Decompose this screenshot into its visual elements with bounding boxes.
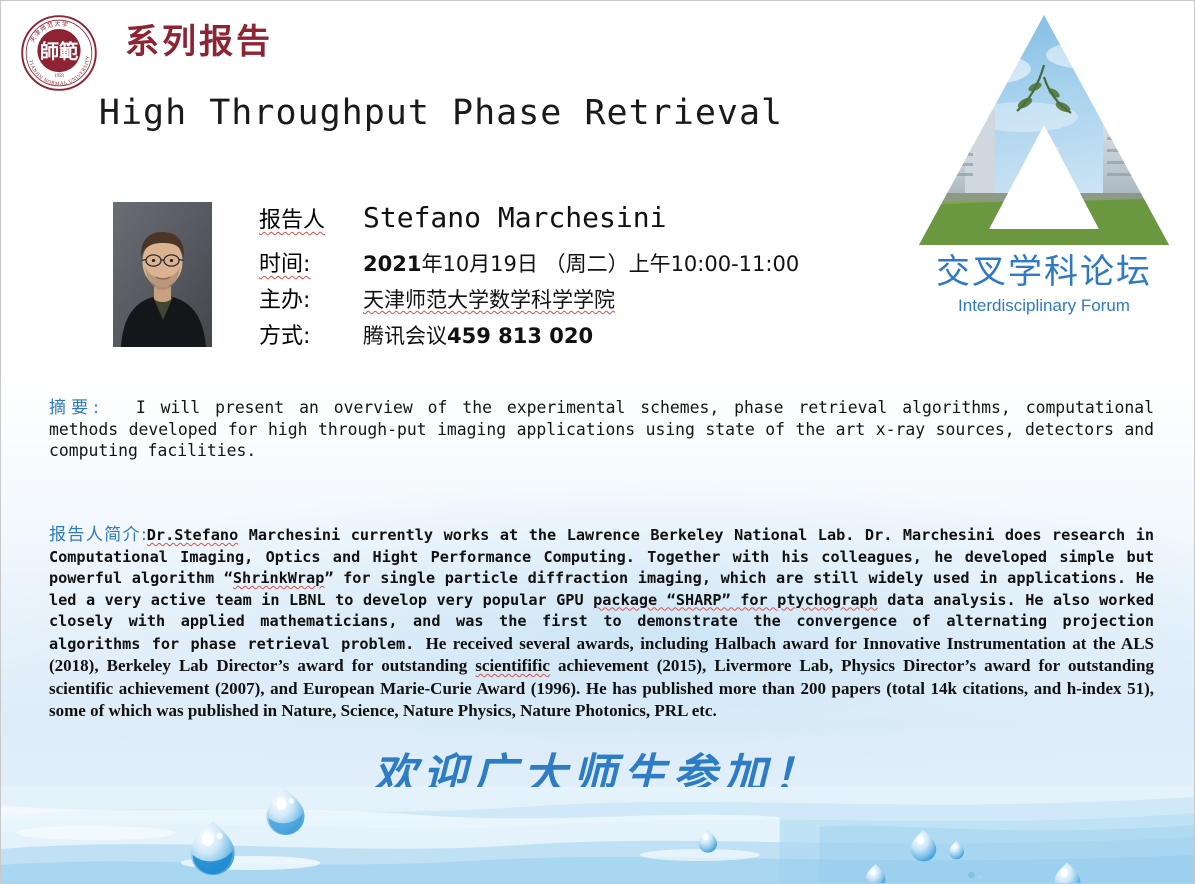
method-label: 方式: [259,318,363,350]
abstract-text: I will present an overview of the experi… [49,398,1154,460]
forum-name-cn: 交叉学科论坛 [904,254,1184,291]
speaker-bio-section: 报告人简介:Dr.Stefano Marchesini currently wo… [49,525,1154,723]
speaker-label: 报告人 [259,202,363,234]
abstract-section: 摘要: I will present an overview of the ex… [49,397,1154,461]
svg-text:1958: 1958 [54,74,64,79]
svg-text:師範: 師範 [40,40,78,63]
interdisciplinary-forum-logo: 交叉学科论坛 Interdisciplinary Forum [904,7,1184,316]
bio-term-shrinkwrap: ShrinkWrap [233,569,324,587]
seminar-poster: 師範 天津师范大学 1958 TIANJIN NORMAL UNIVERSITY… [0,0,1195,884]
forum-name-en: Interdisciplinary Forum [904,296,1184,316]
time-rest: 年10月19日 （周二）上午10:00-11:00 [421,252,799,276]
meeting-id: 459 813 020 [447,324,593,348]
event-details: 报告人 Stefano Marchesini 时间: 2021年10月19日 （… [259,201,859,354]
detail-row-method: 方式: 腾讯会议459 813 020 [259,318,859,350]
speaker-photo [113,202,212,347]
bio-label: 报告人简介: [49,525,147,545]
bio-term-sharp-ptychograph: package “SHARP” for ptychograph [593,591,878,609]
series-title: 系列报告 [125,25,273,59]
decorative-wave-band [1,787,1194,883]
detail-row-organizer: 主办: 天津师范大学数学科学学院 [259,282,859,314]
organizer-value: 天津师范大学数学科学学院 [363,284,615,314]
triangle-logo-icon [913,7,1175,252]
meeting-platform: 腾讯会议 [363,324,447,348]
bio-name-misspelled: Dr.Stefano [147,526,238,544]
abstract-label: 摘要: [49,398,99,418]
university-seal-logo: 師範 天津师范大学 1958 TIANJIN NORMAL UNIVERSITY [19,13,99,93]
method-value: 腾讯会议459 813 020 [363,320,593,350]
bio-typo-scientifific: scientifific [475,656,550,675]
speaker-name: Stefano Marchesini [363,201,666,234]
organizer-label: 主办: [259,282,363,314]
speaker-row: 报告人 Stefano Marchesini [259,201,859,234]
page-title: High Throughput Phase Retrieval [1,93,881,133]
time-year: 2021 [363,252,421,276]
time-value: 2021年10月19日 （周二）上午10:00-11:00 [363,248,799,278]
time-label: 时间: [259,246,363,278]
detail-row-time: 时间: 2021年10月19日 （周二）上午10:00-11:00 [259,246,859,278]
